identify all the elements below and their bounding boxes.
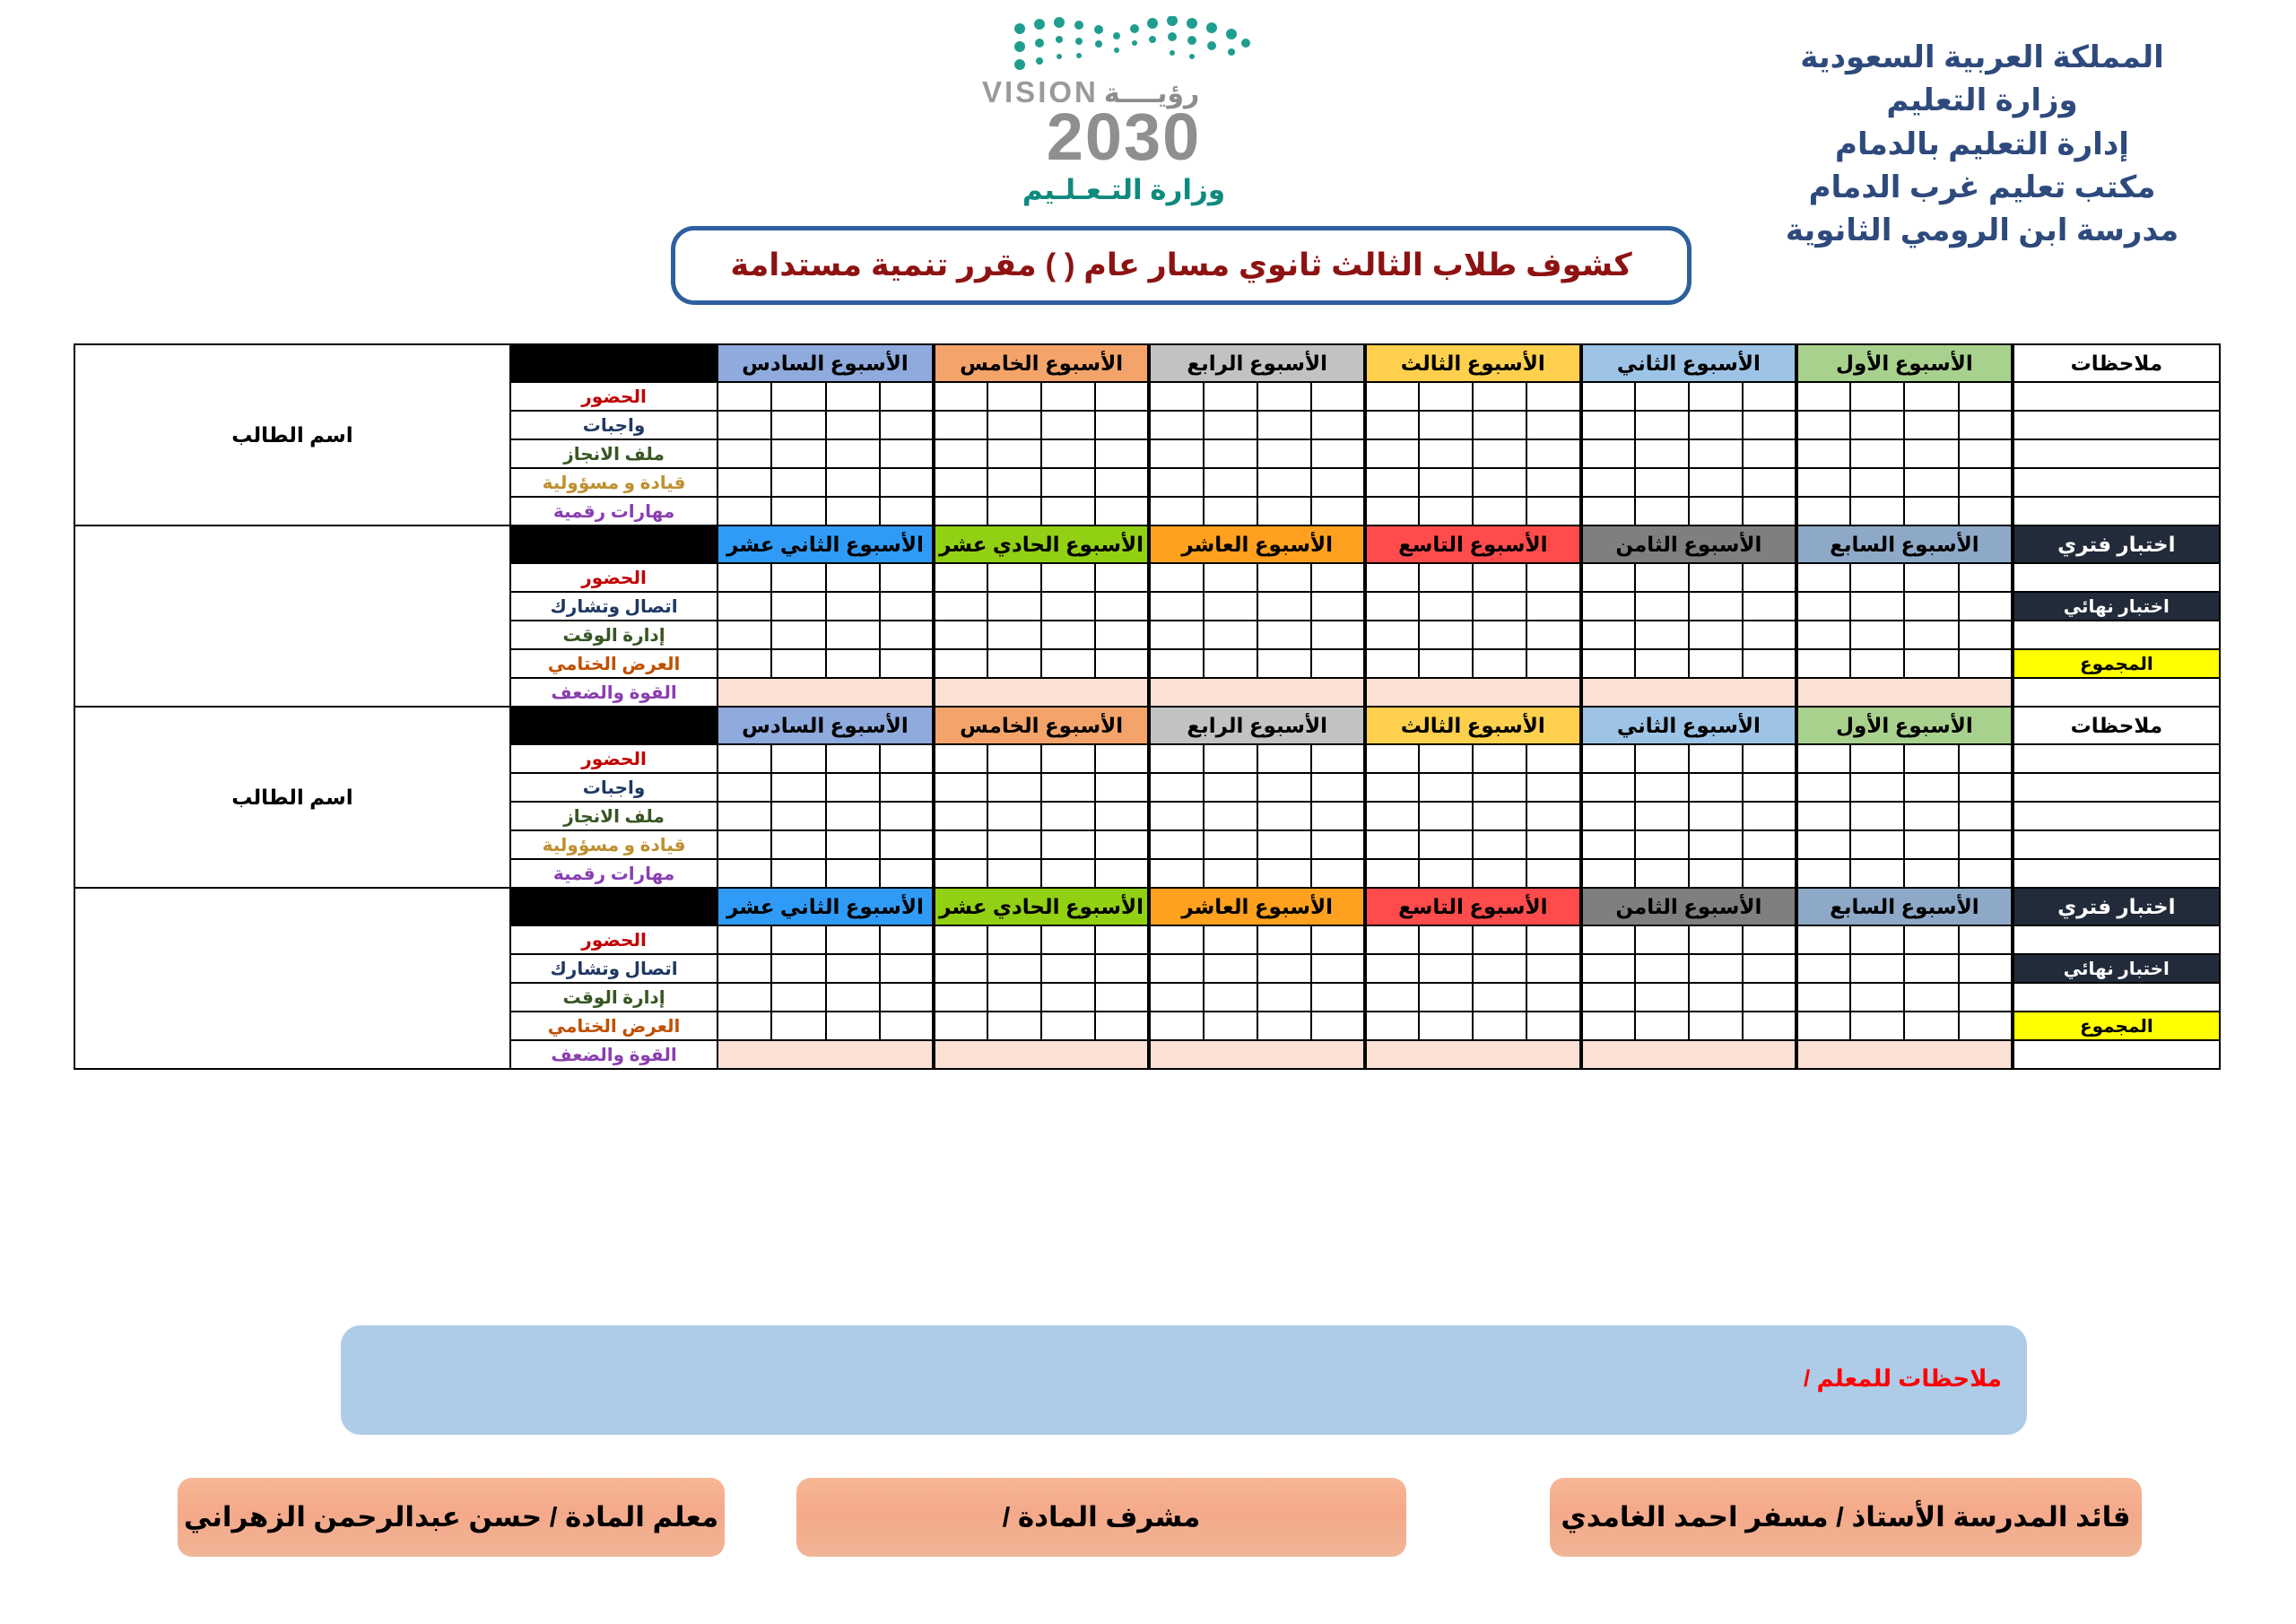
grade-cell[interactable] — [880, 563, 934, 592]
grade-cell[interactable] — [934, 468, 987, 497]
grade-cell[interactable] — [880, 411, 934, 439]
grade-cell[interactable] — [717, 649, 771, 678]
notes-cell[interactable] — [2013, 439, 2220, 468]
grade-cell[interactable] — [1850, 592, 1904, 621]
grade-cell[interactable] — [987, 1012, 1041, 1040]
grade-cell[interactable] — [1257, 925, 1311, 954]
grade-cell[interactable] — [1959, 592, 2013, 621]
grade-cell[interactable] — [1041, 411, 1095, 439]
grade-cell[interactable] — [1149, 592, 1203, 621]
grade-cell[interactable] — [1526, 382, 1580, 411]
grade-cell[interactable] — [1743, 802, 1796, 830]
notes-cell[interactable] — [2013, 773, 2220, 802]
grade-cell[interactable] — [1419, 983, 1473, 1012]
grade-cell[interactable] — [826, 830, 880, 859]
grade-cell[interactable] — [1689, 621, 1743, 649]
grade-cell[interactable] — [1365, 497, 1419, 525]
grade-cell[interactable] — [1204, 497, 1257, 525]
grade-cell[interactable] — [1473, 744, 1526, 773]
grade-cell[interactable] — [1581, 773, 1635, 802]
grade-cell[interactable] — [1204, 649, 1257, 678]
grade-cell[interactable] — [1850, 983, 1904, 1012]
grade-cell[interactable] — [1904, 563, 1958, 592]
grade-cell[interactable] — [1095, 859, 1149, 888]
grade-cell[interactable] — [1959, 411, 2013, 439]
grade-cell[interactable] — [1041, 563, 1095, 592]
grade-cell[interactable] — [1095, 983, 1149, 1012]
grade-cell[interactable] — [1689, 773, 1743, 802]
grade-cell[interactable] — [1743, 744, 1796, 773]
grade-cell[interactable] — [1041, 468, 1095, 497]
grade-cell[interactable] — [771, 563, 825, 592]
grade-cell[interactable] — [1204, 563, 1257, 592]
grade-cell[interactable] — [1095, 830, 1149, 859]
grade-cell[interactable] — [1959, 382, 2013, 411]
grade-cell[interactable] — [1095, 439, 1149, 468]
grade-cell[interactable] — [1095, 468, 1149, 497]
grade-cell[interactable] — [1959, 859, 2013, 888]
grade-cell[interactable] — [1743, 382, 1796, 411]
grade-cell[interactable] — [1149, 1012, 1203, 1040]
grade-cell[interactable] — [1419, 411, 1473, 439]
grade-cell[interactable] — [1041, 983, 1095, 1012]
grade-cell[interactable] — [826, 621, 880, 649]
grade-cell[interactable] — [771, 382, 825, 411]
grade-cell[interactable] — [1850, 859, 1904, 888]
grade-cell[interactable] — [1689, 563, 1743, 592]
grade-cell[interactable] — [1311, 382, 1365, 411]
grade-cell[interactable] — [1204, 954, 1257, 983]
grade-cell[interactable] — [1095, 649, 1149, 678]
grade-cell[interactable] — [1850, 744, 1904, 773]
grade-cell[interactable] — [1365, 621, 1419, 649]
grade-cell[interactable] — [771, 592, 825, 621]
grade-cell[interactable] — [987, 983, 1041, 1012]
grade-cell[interactable] — [934, 859, 987, 888]
grade-cell[interactable] — [771, 773, 825, 802]
grade-cell[interactable] — [934, 925, 987, 954]
grade-cell[interactable] — [1635, 411, 1689, 439]
grade-cell[interactable] — [1041, 773, 1095, 802]
week-merged-cell[interactable] — [934, 1040, 1150, 1069]
grade-cell[interactable] — [1689, 744, 1743, 773]
grade-cell[interactable] — [1149, 773, 1203, 802]
grade-cell[interactable] — [1743, 983, 1796, 1012]
grade-cell[interactable] — [1473, 925, 1526, 954]
grade-cell[interactable] — [934, 744, 987, 773]
grade-cell[interactable] — [1904, 592, 1958, 621]
grade-cell[interactable] — [987, 382, 1041, 411]
student-name-entry-cell[interactable] — [74, 888, 510, 1069]
grade-cell[interactable] — [1526, 744, 1580, 773]
grade-cell[interactable] — [771, 468, 825, 497]
week-merged-cell[interactable] — [717, 678, 934, 707]
grade-cell[interactable] — [987, 925, 1041, 954]
grade-cell[interactable] — [1689, 468, 1743, 497]
grade-cell[interactable] — [1959, 563, 2013, 592]
grade-cell[interactable] — [1526, 563, 1580, 592]
grade-cell[interactable] — [1365, 744, 1419, 773]
grade-cell[interactable] — [1311, 1012, 1365, 1040]
grade-cell[interactable] — [1959, 621, 2013, 649]
grade-cell[interactable] — [987, 802, 1041, 830]
grade-cell[interactable] — [1904, 468, 1958, 497]
grade-cell[interactable] — [826, 592, 880, 621]
grade-cell[interactable] — [1419, 563, 1473, 592]
grade-cell[interactable] — [1526, 592, 1580, 621]
grade-cell[interactable] — [1904, 802, 1958, 830]
grade-cell[interactable] — [1419, 649, 1473, 678]
grade-cell[interactable] — [1041, 802, 1095, 830]
grade-cell[interactable] — [934, 411, 987, 439]
grade-cell[interactable] — [1850, 954, 1904, 983]
grade-cell[interactable] — [826, 954, 880, 983]
grade-cell[interactable] — [934, 983, 987, 1012]
grade-cell[interactable] — [1257, 382, 1311, 411]
grade-cell[interactable] — [1635, 1012, 1689, 1040]
grade-cell[interactable] — [1473, 439, 1526, 468]
grade-cell[interactable] — [1311, 859, 1365, 888]
grade-cell[interactable] — [1959, 954, 2013, 983]
grade-cell[interactable] — [1149, 830, 1203, 859]
week-merged-cell[interactable] — [1581, 678, 1797, 707]
grade-cell[interactable] — [1419, 621, 1473, 649]
left-blank-1[interactable] — [2013, 925, 2220, 954]
grade-cell[interactable] — [1635, 563, 1689, 592]
grade-cell[interactable] — [1635, 925, 1689, 954]
grade-cell[interactable] — [1095, 621, 1149, 649]
grade-cell[interactable] — [1959, 830, 2013, 859]
grade-cell[interactable] — [1365, 411, 1419, 439]
teacher-notes-panel[interactable]: ملاحظات للمعلم / — [341, 1325, 2027, 1435]
grade-cell[interactable] — [826, 859, 880, 888]
grade-cell[interactable] — [1365, 954, 1419, 983]
grade-cell[interactable] — [1095, 925, 1149, 954]
grade-cell[interactable] — [880, 983, 934, 1012]
grade-cell[interactable] — [1204, 468, 1257, 497]
grade-cell[interactable] — [1635, 859, 1689, 888]
grade-cell[interactable] — [1311, 439, 1365, 468]
grade-cell[interactable] — [1095, 1012, 1149, 1040]
grade-cell[interactable] — [987, 411, 1041, 439]
grade-cell[interactable] — [1743, 773, 1796, 802]
grade-cell[interactable] — [1904, 411, 1958, 439]
grade-cell[interactable] — [826, 773, 880, 802]
grade-cell[interactable] — [826, 1012, 880, 1040]
grade-cell[interactable] — [1689, 1012, 1743, 1040]
grade-cell[interactable] — [1041, 439, 1095, 468]
grade-cell[interactable] — [771, 925, 825, 954]
grade-cell[interactable] — [1581, 468, 1635, 497]
grade-cell[interactable] — [1257, 592, 1311, 621]
grade-cell[interactable] — [934, 439, 987, 468]
grade-cell[interactable] — [826, 497, 880, 525]
grade-cell[interactable] — [1365, 802, 1419, 830]
grade-cell[interactable] — [880, 744, 934, 773]
grade-cell[interactable] — [717, 621, 771, 649]
grade-cell[interactable] — [1311, 649, 1365, 678]
grade-cell[interactable] — [1959, 649, 2013, 678]
grade-cell[interactable] — [1796, 925, 1850, 954]
grade-cell[interactable] — [1095, 802, 1149, 830]
grade-cell[interactable] — [1473, 983, 1526, 1012]
grade-cell[interactable] — [1365, 773, 1419, 802]
grade-cell[interactable] — [1311, 468, 1365, 497]
grade-cell[interactable] — [934, 773, 987, 802]
grade-cell[interactable] — [717, 802, 771, 830]
grade-cell[interactable] — [1743, 925, 1796, 954]
grade-cell[interactable] — [771, 802, 825, 830]
grade-cell[interactable] — [1257, 563, 1311, 592]
grade-cell[interactable] — [1204, 773, 1257, 802]
grade-cell[interactable] — [1635, 649, 1689, 678]
grade-cell[interactable] — [987, 773, 1041, 802]
grade-cell[interactable] — [1311, 802, 1365, 830]
grade-cell[interactable] — [1850, 649, 1904, 678]
grade-cell[interactable] — [1635, 830, 1689, 859]
grade-cell[interactable] — [1904, 382, 1958, 411]
grade-cell[interactable] — [1526, 954, 1580, 983]
grade-cell[interactable] — [826, 411, 880, 439]
grade-cell[interactable] — [1311, 563, 1365, 592]
grade-cell[interactable] — [1635, 802, 1689, 830]
grade-cell[interactable] — [1689, 859, 1743, 888]
grade-cell[interactable] — [1257, 954, 1311, 983]
grade-cell[interactable] — [1796, 497, 1850, 525]
grade-cell[interactable] — [1526, 621, 1580, 649]
grade-cell[interactable] — [1526, 1012, 1580, 1040]
grade-cell[interactable] — [717, 592, 771, 621]
grade-cell[interactable] — [826, 802, 880, 830]
grade-cell[interactable] — [1689, 382, 1743, 411]
grade-cell[interactable] — [880, 954, 934, 983]
grade-cell[interactable] — [1311, 497, 1365, 525]
grade-cell[interactable] — [1365, 563, 1419, 592]
grade-cell[interactable] — [1257, 439, 1311, 468]
grade-cell[interactable] — [1257, 621, 1311, 649]
grade-cell[interactable] — [826, 439, 880, 468]
grade-cell[interactable] — [1581, 744, 1635, 773]
grade-cell[interactable] — [1526, 859, 1580, 888]
grade-cell[interactable] — [1526, 983, 1580, 1012]
grade-cell[interactable] — [987, 859, 1041, 888]
grade-cell[interactable] — [1473, 1012, 1526, 1040]
grade-cell[interactable] — [1419, 1012, 1473, 1040]
grade-cell[interactable] — [1689, 497, 1743, 525]
grade-cell[interactable] — [1095, 773, 1149, 802]
grade-cell[interactable] — [1365, 468, 1419, 497]
grade-cell[interactable] — [1204, 592, 1257, 621]
grade-cell[interactable] — [1581, 1012, 1635, 1040]
grade-cell[interactable] — [1581, 802, 1635, 830]
grade-cell[interactable] — [1850, 382, 1904, 411]
grade-cell[interactable] — [1635, 983, 1689, 1012]
grade-cell[interactable] — [771, 859, 825, 888]
week-merged-cell[interactable] — [1581, 1040, 1797, 1069]
grade-cell[interactable] — [771, 439, 825, 468]
grade-cell[interactable] — [1581, 592, 1635, 621]
week-merged-cell[interactable] — [1796, 678, 2013, 707]
grade-cell[interactable] — [717, 563, 771, 592]
grade-cell[interactable] — [1689, 830, 1743, 859]
grade-cell[interactable] — [1743, 497, 1796, 525]
grade-cell[interactable] — [1904, 925, 1958, 954]
grade-cell[interactable] — [1149, 954, 1203, 983]
grade-cell[interactable] — [934, 497, 987, 525]
grade-cell[interactable] — [1526, 802, 1580, 830]
grade-cell[interactable] — [1796, 802, 1850, 830]
grade-cell[interactable] — [1473, 563, 1526, 592]
grade-cell[interactable] — [1365, 439, 1419, 468]
grade-cell[interactable] — [1149, 497, 1203, 525]
grade-cell[interactable] — [1419, 802, 1473, 830]
grade-cell[interactable] — [1419, 954, 1473, 983]
grade-cell[interactable] — [771, 649, 825, 678]
grade-cell[interactable] — [1850, 439, 1904, 468]
grade-cell[interactable] — [1796, 439, 1850, 468]
grade-cell[interactable] — [987, 621, 1041, 649]
grade-cell[interactable] — [1365, 1012, 1419, 1040]
grade-cell[interactable] — [1635, 439, 1689, 468]
grade-cell[interactable] — [1743, 859, 1796, 888]
grade-cell[interactable] — [880, 802, 934, 830]
grade-cell[interactable] — [826, 468, 880, 497]
grade-cell[interactable] — [1257, 649, 1311, 678]
grade-cell[interactable] — [987, 468, 1041, 497]
grade-cell[interactable] — [1689, 983, 1743, 1012]
grade-cell[interactable] — [1419, 744, 1473, 773]
week-merged-cell[interactable] — [1149, 678, 1365, 707]
grade-cell[interactable] — [771, 497, 825, 525]
grade-cell[interactable] — [1689, 592, 1743, 621]
grade-cell[interactable] — [1689, 439, 1743, 468]
grade-cell[interactable] — [1796, 1012, 1850, 1040]
grade-cell[interactable] — [717, 859, 771, 888]
grade-cell[interactable] — [1635, 382, 1689, 411]
grade-cell[interactable] — [1257, 830, 1311, 859]
grade-cell[interactable] — [1041, 382, 1095, 411]
grade-cell[interactable] — [1635, 621, 1689, 649]
grade-cell[interactable] — [1419, 773, 1473, 802]
student-name-entry-cell[interactable] — [74, 525, 510, 707]
grade-cell[interactable] — [934, 954, 987, 983]
grade-cell[interactable] — [717, 773, 771, 802]
grade-cell[interactable] — [1904, 649, 1958, 678]
grade-cell[interactable] — [717, 983, 771, 1012]
grade-cell[interactable] — [1959, 439, 2013, 468]
grade-cell[interactable] — [1473, 411, 1526, 439]
grade-cell[interactable] — [1850, 802, 1904, 830]
grade-cell[interactable] — [1473, 954, 1526, 983]
notes-cell[interactable] — [2013, 859, 2220, 888]
grade-cell[interactable] — [1743, 830, 1796, 859]
grade-cell[interactable] — [1526, 649, 1580, 678]
grade-cell[interactable] — [934, 649, 987, 678]
grade-cell[interactable] — [771, 621, 825, 649]
grade-cell[interactable] — [1581, 649, 1635, 678]
grade-cell[interactable] — [880, 468, 934, 497]
grade-cell[interactable] — [1257, 744, 1311, 773]
grade-cell[interactable] — [1041, 925, 1095, 954]
grade-cell[interactable] — [771, 411, 825, 439]
grade-cell[interactable] — [1365, 925, 1419, 954]
grade-cell[interactable] — [1149, 621, 1203, 649]
grade-cell[interactable] — [1149, 382, 1203, 411]
grade-cell[interactable] — [1365, 592, 1419, 621]
grade-cell[interactable] — [1041, 497, 1095, 525]
grade-cell[interactable] — [1581, 621, 1635, 649]
grade-cell[interactable] — [1635, 468, 1689, 497]
left-blank-2[interactable] — [2013, 983, 2220, 1012]
grade-cell[interactable] — [1904, 773, 1958, 802]
grade-cell[interactable] — [1689, 925, 1743, 954]
grade-cell[interactable] — [1959, 744, 2013, 773]
grade-cell[interactable] — [1204, 439, 1257, 468]
grade-cell[interactable] — [1204, 744, 1257, 773]
week-merged-cell[interactable] — [934, 678, 1150, 707]
grade-cell[interactable] — [1904, 439, 1958, 468]
grade-cell[interactable] — [1850, 1012, 1904, 1040]
grade-cell[interactable] — [1743, 563, 1796, 592]
grade-cell[interactable] — [1311, 744, 1365, 773]
grade-cell[interactable] — [717, 744, 771, 773]
grade-cell[interactable] — [880, 773, 934, 802]
grade-cell[interactable] — [1796, 592, 1850, 621]
notes-cell[interactable] — [2013, 497, 2220, 525]
grade-cell[interactable] — [1796, 859, 1850, 888]
grade-cell[interactable] — [1581, 954, 1635, 983]
grade-cell[interactable] — [771, 983, 825, 1012]
grade-cell[interactable] — [1095, 592, 1149, 621]
grade-cell[interactable] — [717, 925, 771, 954]
grade-cell[interactable] — [1095, 563, 1149, 592]
grade-cell[interactable] — [1204, 983, 1257, 1012]
grade-cell[interactable] — [1149, 802, 1203, 830]
grade-cell[interactable] — [1473, 497, 1526, 525]
grade-cell[interactable] — [1041, 859, 1095, 888]
grade-cell[interactable] — [1473, 592, 1526, 621]
grade-cell[interactable] — [1365, 382, 1419, 411]
grade-cell[interactable] — [1526, 830, 1580, 859]
grade-cell[interactable] — [880, 621, 934, 649]
grade-cell[interactable] — [1526, 497, 1580, 525]
grade-cell[interactable] — [1635, 954, 1689, 983]
grade-cell[interactable] — [1311, 925, 1365, 954]
grade-cell[interactable] — [1635, 592, 1689, 621]
grade-cell[interactable] — [1743, 1012, 1796, 1040]
grade-cell[interactable] — [1419, 497, 1473, 525]
grade-cell[interactable] — [987, 439, 1041, 468]
grade-cell[interactable] — [1419, 925, 1473, 954]
grade-cell[interactable] — [1311, 773, 1365, 802]
grade-cell[interactable] — [1850, 621, 1904, 649]
grade-cell[interactable] — [1959, 497, 2013, 525]
grade-cell[interactable] — [1204, 1012, 1257, 1040]
grade-cell[interactable] — [717, 1012, 771, 1040]
grade-cell[interactable] — [987, 744, 1041, 773]
grade-cell[interactable] — [1850, 468, 1904, 497]
grade-cell[interactable] — [1041, 1012, 1095, 1040]
grade-cell[interactable] — [1149, 983, 1203, 1012]
grade-cell[interactable] — [1959, 468, 2013, 497]
grade-cell[interactable] — [1365, 649, 1419, 678]
grade-cell[interactable] — [1635, 497, 1689, 525]
grade-cell[interactable] — [1149, 468, 1203, 497]
grade-cell[interactable] — [1526, 468, 1580, 497]
grade-cell[interactable] — [1473, 773, 1526, 802]
grade-cell[interactable] — [1796, 468, 1850, 497]
grade-cell[interactable] — [1419, 439, 1473, 468]
